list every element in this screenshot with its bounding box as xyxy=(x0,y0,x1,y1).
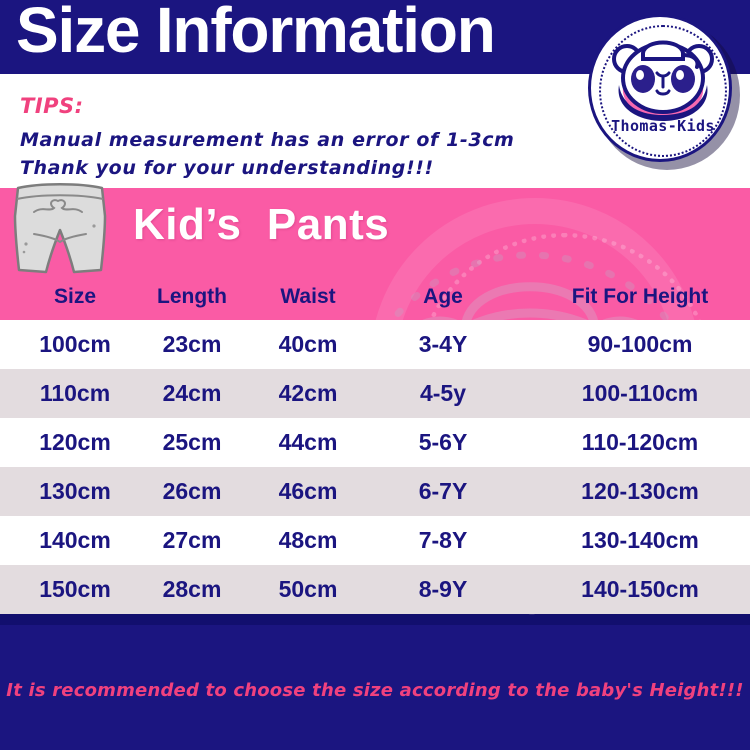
column-header-waist: Waist xyxy=(280,285,335,309)
cell-length: 25cm xyxy=(163,429,222,456)
tips-label: TIPS: xyxy=(20,94,84,118)
cell-fit-for-height: 130-140cm xyxy=(581,527,699,554)
column-header-age: Age xyxy=(423,285,463,309)
cell-size: 110cm xyxy=(40,380,110,407)
cell-fit-for-height: 100-110cm xyxy=(582,380,698,407)
cell-age: 5-6Y xyxy=(419,429,468,456)
cell-fit-for-height: 140-150cm xyxy=(581,576,699,603)
shorts-icon xyxy=(4,182,116,280)
cell-age: 4-5y xyxy=(420,380,466,407)
cell-fit-for-height: 110-120cm xyxy=(582,429,698,456)
product-title: Kid’s Pants xyxy=(133,200,389,250)
page-title: Size Information xyxy=(16,0,495,67)
cell-length: 27cm xyxy=(163,527,222,554)
cell-size: 100cm xyxy=(39,331,111,358)
cell-length: 26cm xyxy=(163,478,222,505)
cell-length: 23cm xyxy=(163,331,222,358)
cell-length: 24cm xyxy=(163,380,222,407)
brand-logo: Thomas-Kids xyxy=(588,14,740,170)
cell-age: 7-8Y xyxy=(419,527,468,554)
tips-line-thanks: Thank you for your understanding!!! xyxy=(20,157,434,179)
column-header-size: Size xyxy=(54,285,96,309)
footer-note: It is recommended to choose the size acc… xyxy=(0,680,750,701)
cell-waist: 48cm xyxy=(279,527,338,554)
cell-size: 150cm xyxy=(39,576,111,603)
tips-line-measurement: Manual measurement has an error of 1-3cm xyxy=(20,129,514,151)
cell-waist: 46cm xyxy=(279,478,338,505)
cell-waist: 50cm xyxy=(279,576,338,603)
size-chart-page: Size Information TIPS: Manual measuremen… xyxy=(0,0,750,750)
table-row: 140cm27cm48cm7-8Y130-140cm xyxy=(0,516,750,565)
cell-waist: 42cm xyxy=(279,380,338,407)
cell-waist: 40cm xyxy=(279,331,338,358)
bear-mascot-icon xyxy=(605,33,721,125)
table-row: 100cm23cm40cm3-4Y90-100cm xyxy=(0,320,750,369)
table-row: 110cm24cm42cm4-5y100-110cm xyxy=(0,369,750,418)
cell-age: 8-9Y xyxy=(419,576,468,603)
logo-brand-name: Thomas-Kids xyxy=(591,117,735,135)
table-row: 130cm26cm46cm6-7Y120-130cm xyxy=(0,467,750,516)
cell-fit-for-height: 90-100cm xyxy=(588,331,693,358)
cell-age: 6-7Y xyxy=(419,478,468,505)
table-row: 120cm25cm44cm5-6Y110-120cm xyxy=(0,418,750,467)
cell-fit-for-height: 120-130cm xyxy=(581,478,699,505)
column-header-length: Length xyxy=(157,285,227,309)
footer-band: It is recommended to choose the size acc… xyxy=(0,625,750,750)
table-row: 150cm28cm50cm8-9Y140-150cm xyxy=(0,565,750,614)
column-header-fit-for-height: Fit For Height xyxy=(572,285,708,309)
cell-size: 140cm xyxy=(39,527,111,554)
logo-disc: Thomas-Kids xyxy=(588,14,732,162)
cell-size: 130cm xyxy=(39,478,111,505)
cell-length: 28cm xyxy=(163,576,222,603)
cell-size: 120cm xyxy=(39,429,111,456)
cell-waist: 44cm xyxy=(279,429,338,456)
cell-age: 3-4Y xyxy=(419,331,468,358)
table-header-row: SizeLengthWaistAgeFit For Height xyxy=(0,280,750,320)
